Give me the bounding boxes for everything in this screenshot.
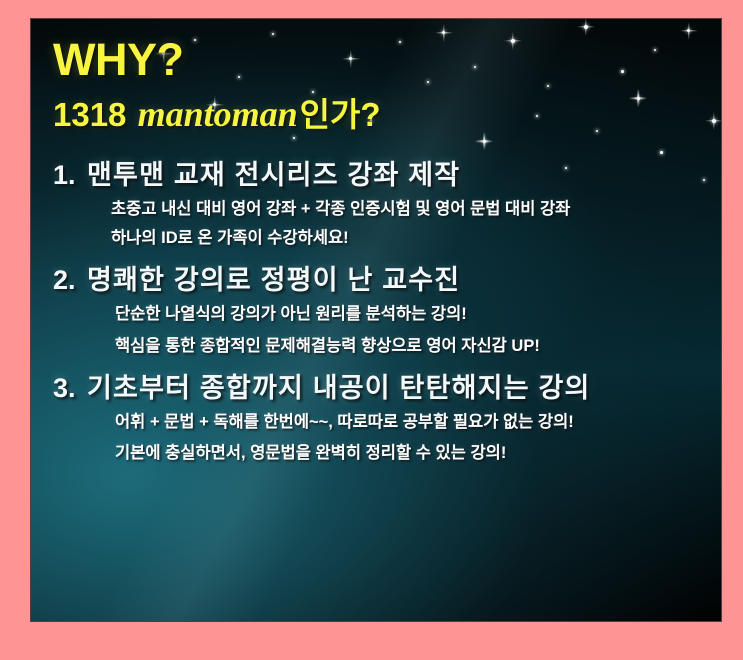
item-headline-text: 맨투맨 교재 전시리즈 강좌 제작 — [87, 162, 460, 189]
subtitle-number: 1318 — [53, 96, 126, 133]
list-item: 3. 기초부터 종합까지 내공이 탄탄해지는 강의 어휘 + 문법 + 독해를 … — [53, 375, 721, 462]
item-subtext: 단순한 나열식의 강의가 아닌 원리를 분석하는 강의! — [115, 306, 721, 323]
item-headline: 1. 맨투맨 교재 전시리즈 강좌 제작 — [53, 162, 721, 189]
item-headline: 2. 명쾌한 강의로 정평이 난 교수진 — [53, 267, 721, 294]
list-item: 1. 맨투맨 교재 전시리즈 강좌 제작 초중고 내신 대비 영어 강좌 + 각… — [53, 162, 721, 247]
brand-name: mantoman — [136, 94, 300, 134]
item-index: 1. — [53, 162, 87, 189]
page-title: WHY? — [53, 37, 721, 82]
item-subtext: 기본에 충실하면서, 영문법을 완벽히 정리할 수 있는 강의! — [115, 445, 721, 462]
item-subtext: 하나의 ID로 온 가족이 수강하세요! — [111, 230, 721, 247]
item-headline: 3. 기초부터 종합까지 내공이 탄탄해지는 강의 — [53, 375, 721, 402]
poster-frame: WHY? 1318 mantoman인가? 1. 맨투맨 교재 전시리즈 강좌 … — [0, 0, 743, 660]
item-headline-text: 명쾌한 강의로 정평이 난 교수진 — [87, 267, 460, 294]
item-subtext: 핵심을 통한 종합적인 문제해결능력 향상으로 영어 자신감 UP! — [115, 338, 721, 355]
poster-content: WHY? 1318 mantoman인가? 1. 맨투맨 교재 전시리즈 강좌 … — [31, 19, 721, 462]
subtitle-tail: 인가? — [300, 96, 381, 133]
list-item: 2. 명쾌한 강의로 정평이 난 교수진 단순한 나열식의 강의가 아닌 원리를… — [53, 267, 721, 355]
item-index: 2. — [53, 267, 87, 294]
page-subtitle: 1318 mantoman인가? — [53, 96, 721, 134]
poster-canvas: WHY? 1318 mantoman인가? 1. 맨투맨 교재 전시리즈 강좌 … — [30, 18, 722, 622]
item-headline-text: 기초부터 종합까지 내공이 탄탄해지는 강의 — [87, 375, 591, 402]
item-index: 3. — [53, 375, 87, 402]
item-subtext: 어휘 + 문법 + 독해를 한번에~~, 따로따로 공부할 필요가 없는 강의! — [115, 414, 721, 431]
item-subtext: 초중고 내신 대비 영어 강좌 + 각종 인증시험 및 영어 문법 대비 강좌 — [111, 201, 721, 218]
